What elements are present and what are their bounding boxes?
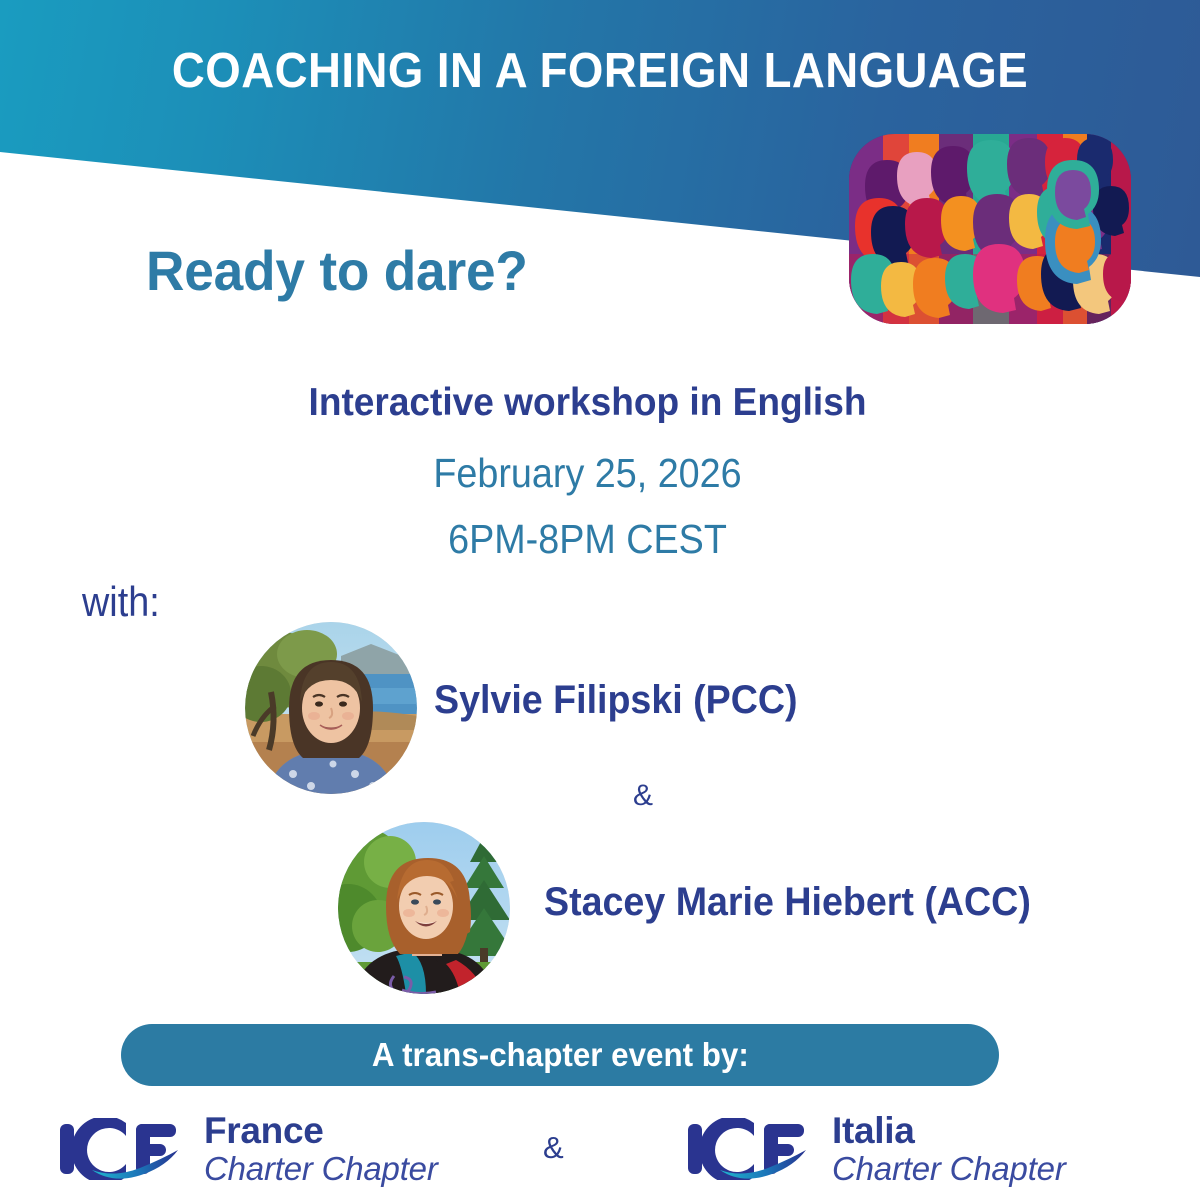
trans-chapter-banner: A trans-chapter event by: — [121, 1024, 999, 1086]
page-title: COACHING IN A FOREIGN LANGUAGE — [42, 44, 1158, 99]
icf-france-text: France Charter Chapter — [204, 1112, 438, 1185]
logos-separator: & — [543, 1130, 564, 1166]
with-label: with: — [82, 578, 160, 626]
workshop-subtitle: Interactive workshop in English — [29, 381, 1145, 425]
speakers-separator: & — [633, 779, 653, 813]
headline: Ready to dare? — [146, 238, 528, 303]
speaker-name-1: Sylvie Filipski (PCC) — [434, 678, 798, 723]
chapter-subtitle-italia: Charter Chapter — [832, 1152, 1066, 1185]
chapter-country-italia: Italia — [832, 1112, 1066, 1149]
event-time: 6PM-8PM CEST — [47, 516, 1128, 563]
icf-logo-icon — [684, 1118, 810, 1180]
speaker-portrait-sylvie — [245, 622, 417, 794]
speaker-portrait-stacey — [338, 822, 510, 994]
icf-logo-icon — [56, 1118, 182, 1180]
trans-chapter-banner-label: A trans-chapter event by: — [372, 1036, 749, 1074]
partner-logos-row: France Charter Chapter — [0, 1104, 1200, 1200]
crowd-silhouettes-image — [849, 134, 1131, 324]
chapter-country-france: France — [204, 1112, 438, 1149]
icf-france-logo: France Charter Chapter — [56, 1112, 438, 1185]
icf-italia-logo: Italia Charter Chapter — [684, 1112, 1066, 1185]
chapter-subtitle-france: Charter Chapter — [204, 1152, 438, 1185]
speaker-name-2: Stacey Marie Hiebert (ACC) — [544, 880, 1031, 925]
event-date: February 25, 2026 — [47, 450, 1128, 497]
icf-italia-text: Italia Charter Chapter — [832, 1112, 1066, 1185]
